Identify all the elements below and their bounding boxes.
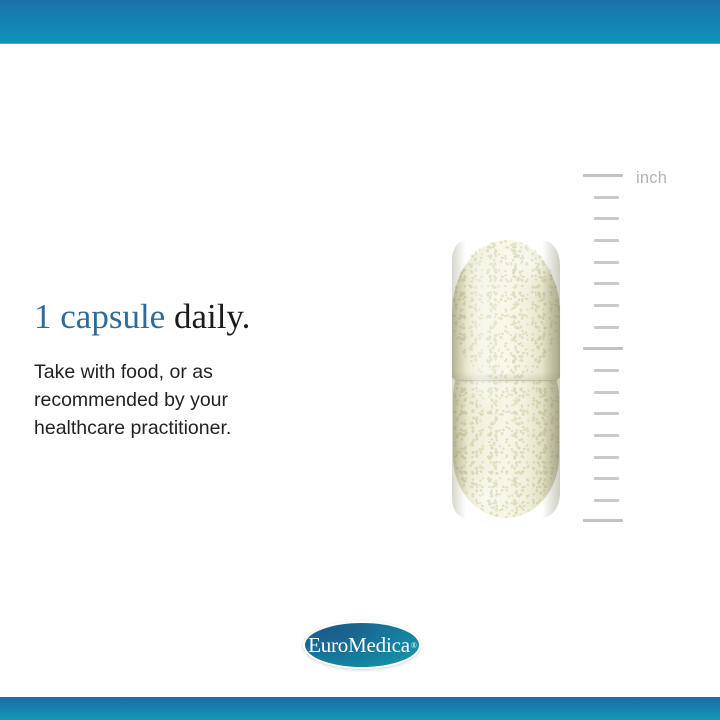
dosage-headline-rest: daily. [165,297,250,336]
dosage-headline: 1 capsule daily. [34,296,364,338]
ruler-tick-minor-9 [594,369,619,372]
logo-wordmark: EuroMedica ® [303,621,421,669]
capsule-left-shading [452,240,466,518]
bottom-brand-bar [0,697,720,720]
top-brand-bar [0,0,720,44]
ruler-tick-minor-10 [594,391,619,394]
capsule-specular-highlight [474,254,502,404]
ruler-tick-minor-12 [594,434,619,437]
dosage-copy-block: 1 capsule daily. Take with food, or as r… [34,296,364,442]
inch-ruler [583,174,629,524]
registered-trademark-icon: ® [411,641,417,650]
ruler-tick-minor-13 [594,456,619,459]
dosage-headline-accent: 1 capsule [34,297,165,336]
dosage-instructions: Take with food, or as recommended by you… [34,358,314,442]
ruler-tick-minor-6 [594,304,619,307]
ruler-tick-major-0 [583,174,623,177]
ruler-tick-major-8 [583,347,623,350]
ruler-tick-minor-14 [594,477,619,480]
ruler-tick-minor-15 [594,499,619,502]
ruler-tick-major-16 [583,519,623,522]
ruler-unit-label: inch [636,169,667,188]
ruler-tick-minor-7 [594,326,619,329]
ruler-tick-minor-11 [594,412,619,415]
capsule-image [452,240,560,518]
ruler-tick-minor-1 [594,196,619,199]
ruler-tick-minor-4 [594,261,619,264]
logo-brand-name: EuroMedica [308,633,410,658]
product-detail-panel: 1 capsule daily. Take with food, or as r… [0,0,720,720]
ruler-tick-minor-3 [594,239,619,242]
ruler-tick-minor-5 [594,282,619,285]
capsule-right-shading [542,240,560,518]
euromedica-logo: EuroMedica ® [303,621,421,669]
ruler-tick-minor-2 [594,217,619,220]
